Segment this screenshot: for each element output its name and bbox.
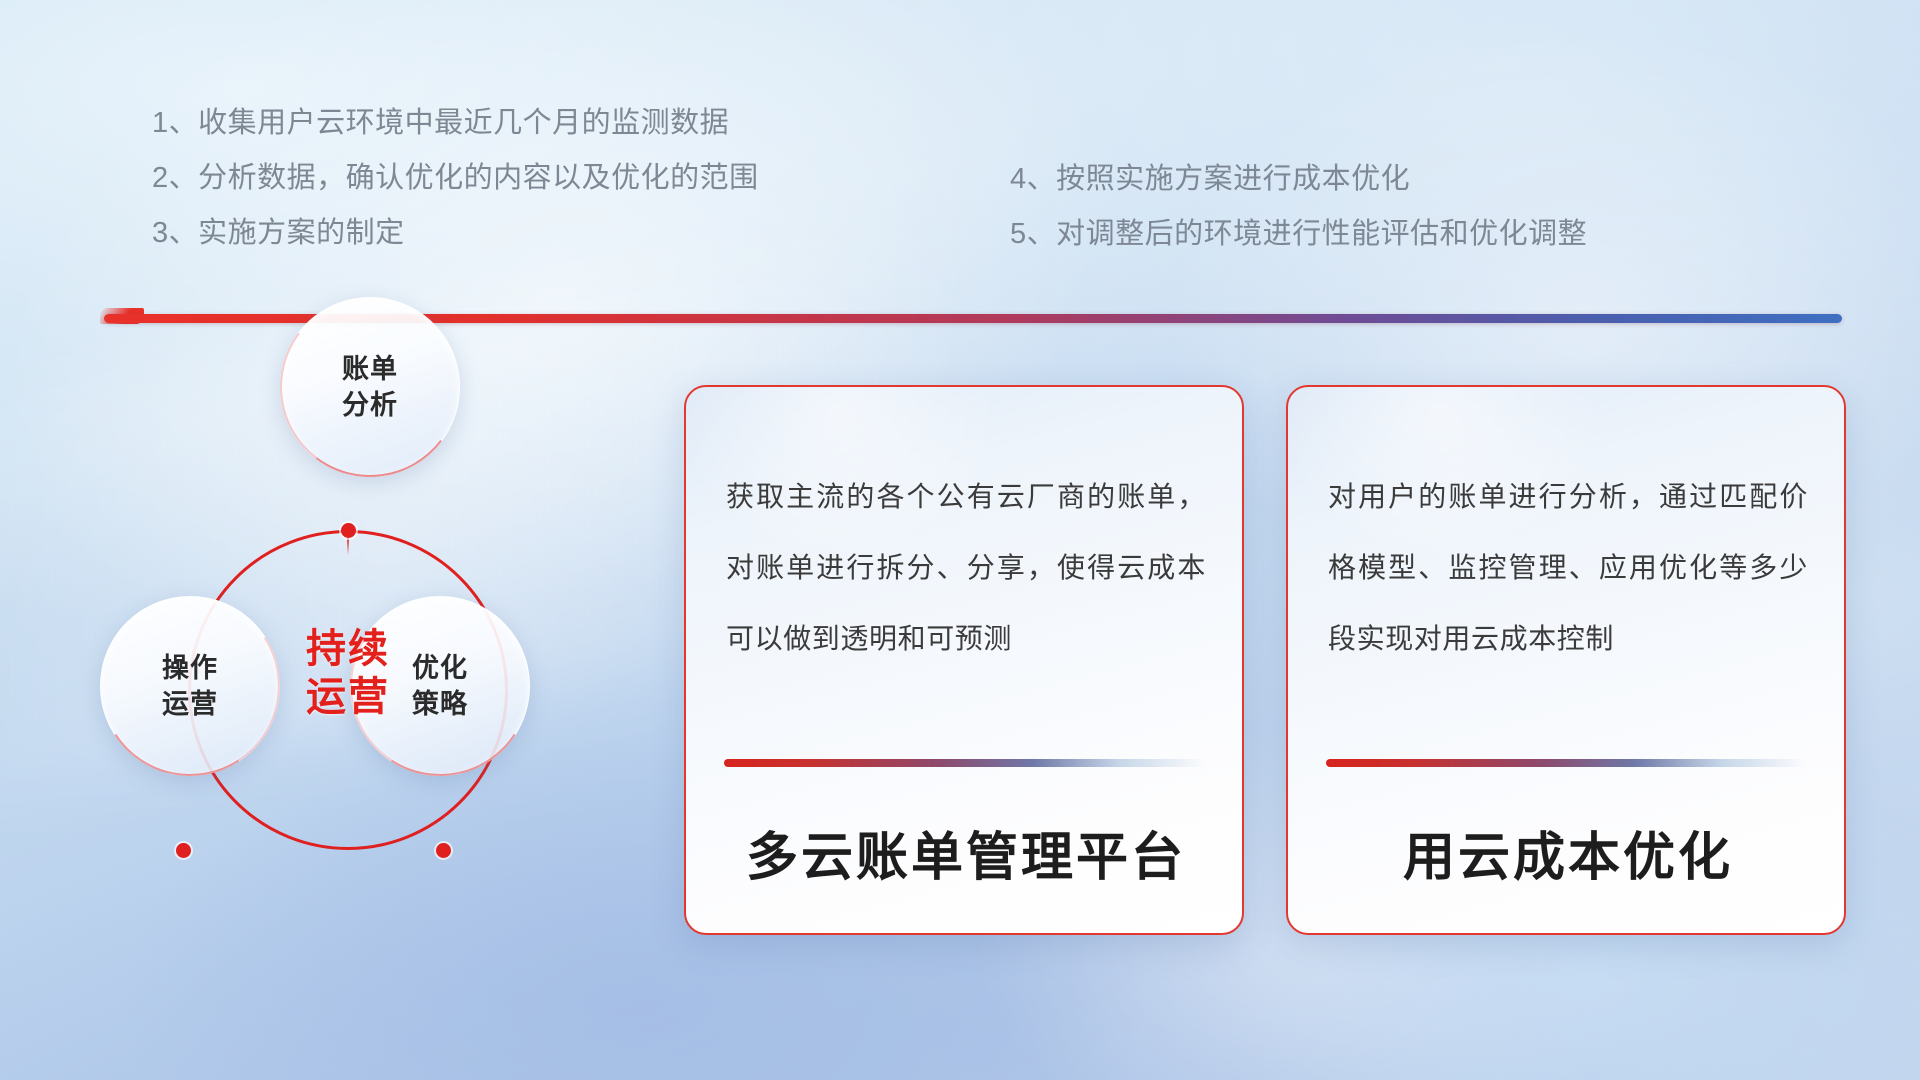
bubble-label-line2: 运营 (162, 689, 218, 719)
node-dot-right (436, 843, 451, 858)
card-accent-rule (1326, 759, 1808, 767)
list-item: 4、按照实施方案进行成本优化 (1010, 152, 1587, 207)
bubble-label: 账单 分析 (342, 351, 398, 423)
bubble-label-line1: 操作 (162, 653, 218, 683)
center-label-line2: 运营 (306, 675, 390, 719)
diagram-center-label: 持续 运营 (243, 625, 453, 721)
bubble-label-line1: 账单 (342, 354, 398, 384)
process-steps-right-column: 4、按照实施方案进行成本优化 5、对调整后的环境进行性能评估和优化调整 (1010, 152, 1587, 262)
bubble-label-line2: 分析 (342, 390, 398, 420)
card-accent-rule (724, 759, 1206, 767)
process-steps-left-column: 1、收集用户云环境中最近几个月的监测数据 2、分析数据，确认优化的内容以及优化的… (152, 96, 759, 261)
list-item: 3、实施方案的制定 (152, 206, 759, 261)
feature-card[interactable]: 获取主流的各个公有云厂商的账单，对账单进行拆分、分享，使得云成本可以做到透明和可… (684, 385, 1244, 935)
bubble-bill-analysis[interactable]: 账单 分析 (280, 297, 460, 477)
node-dot-left (176, 843, 191, 858)
process-steps-list: 1、收集用户云环境中最近几个月的监测数据 2、分析数据，确认优化的内容以及优化的… (0, 0, 1920, 300)
list-item: 1、收集用户云环境中最近几个月的监测数据 (152, 96, 759, 151)
list-item: 2、分析数据，确认优化的内容以及优化的范围 (152, 151, 759, 206)
feature-card[interactable]: 对用户的账单进行分析，通过匹配价格模型、监控管理、应用优化等多少段实现对用云成本… (1286, 385, 1846, 935)
card-body-text: 对用户的账单进行分析，通过匹配价格模型、监控管理、应用优化等多少段实现对用云成本… (1328, 461, 1808, 674)
node-tail-top (347, 537, 349, 555)
list-item: 5、对调整后的环境进行性能评估和优化调整 (1010, 207, 1587, 262)
card-title: 多云账单管理平台 (720, 815, 1212, 890)
card-title: 用云成本优化 (1322, 815, 1814, 890)
card-body-text: 获取主流的各个公有云厂商的账单，对账单进行拆分、分享，使得云成本可以做到透明和可… (726, 461, 1206, 674)
node-dot-top (341, 523, 356, 538)
center-label-line1: 持续 (306, 627, 390, 671)
continuous-operations-diagram: 账单 分析 操作 运营 优化 策略 持续 运营 (95, 345, 555, 925)
bubble-label: 操作 运营 (162, 650, 218, 722)
